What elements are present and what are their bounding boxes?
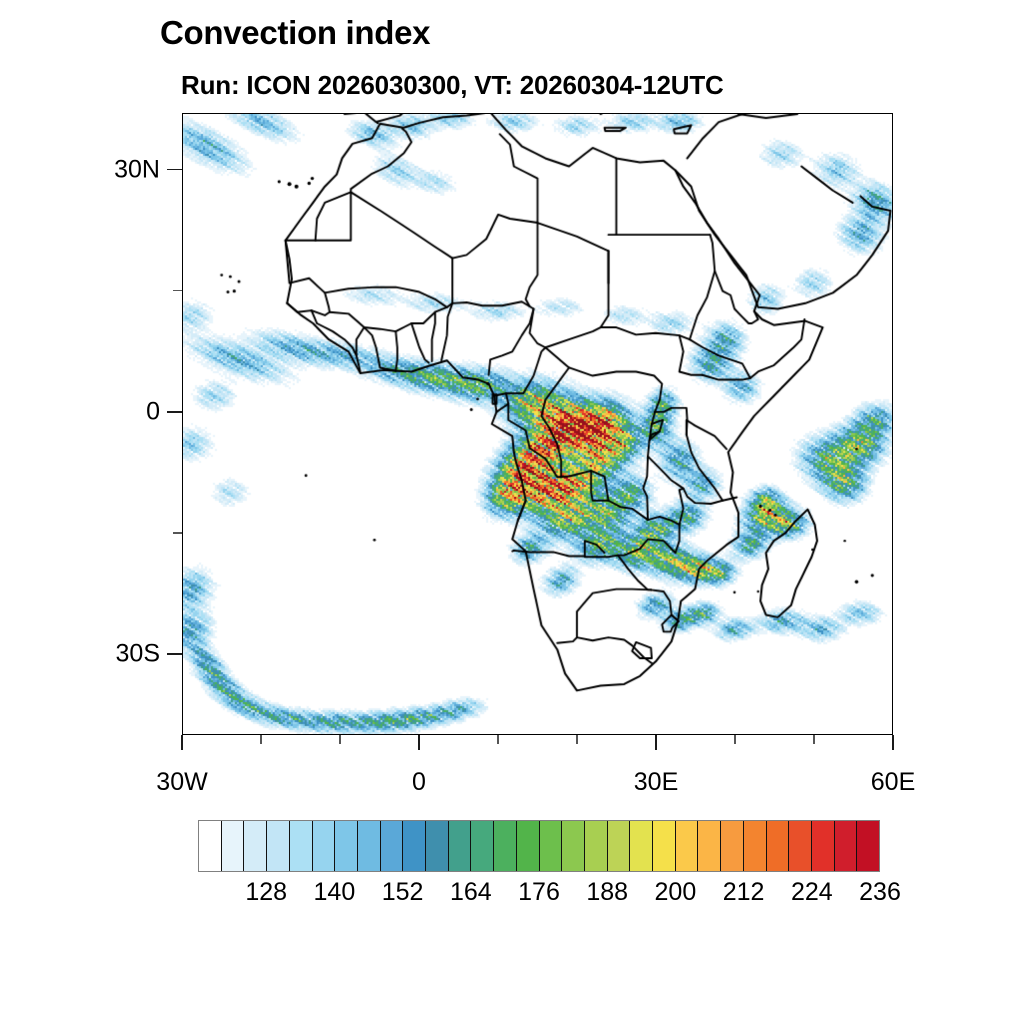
colorbar-cell [540,821,563,871]
colorbar-cell [222,821,245,871]
x-tick-minor [339,735,341,744]
page-title: Convection index [160,16,430,49]
colorbar-cell [676,821,699,871]
colorbar-cell [744,821,767,871]
colorbar-tick-label: 140 [314,878,356,907]
colorbar-cell [653,821,676,871]
colorbar-cell [244,821,267,871]
colorbar-cells [198,820,880,872]
y-tick-minor [173,532,182,534]
colorbar-tick-label: 152 [382,878,424,907]
x-tick-major [418,735,420,750]
colorbar-cell [471,821,494,871]
convection-index-figure: Convection index Run: ICON 2026030300, V… [0,0,1024,1024]
x-tick-major [655,735,657,750]
colorbar-cell [562,821,585,871]
colorbar-tick-label: 164 [450,878,492,907]
colorbar-cell [267,821,290,871]
colorbar-labels: 128140152164176188200212224236 [198,878,880,912]
x-tick-label: 30W [156,768,207,797]
colorbar-cell [199,821,222,871]
colorbar-cell [313,821,336,871]
colorbar-cell [403,821,426,871]
x-tick-label: 0 [412,768,426,797]
colorbar-cell [608,821,631,871]
convection-index-heatmap [183,114,892,734]
x-tick-minor [734,735,736,744]
map-panel [182,113,893,735]
colorbar-cell [698,821,721,871]
y-tick-minor [173,290,182,292]
colorbar-cell [585,821,608,871]
colorbar-cell [449,821,472,871]
colorbar-cell [630,821,653,871]
colorbar-tick-label: 224 [791,878,833,907]
y-tick-major [167,653,182,655]
colorbar-cell [721,821,744,871]
colorbar-tick-label: 236 [859,878,901,907]
colorbar-tick-label: 188 [586,878,628,907]
y-tick-label: 30N [114,155,160,184]
colorbar-cell [494,821,517,871]
colorbar-cell [290,821,313,871]
colorbar-cell [835,821,858,871]
colorbar-cell [426,821,449,871]
colorbar-tick-label: 176 [518,878,560,907]
colorbar-cell [857,821,879,871]
colorbar-cell [767,821,790,871]
y-tick-label: 0 [146,397,160,426]
x-tick-minor [497,735,499,744]
x-tick-label: 60E [871,768,915,797]
colorbar-cell [381,821,404,871]
x-tick-label: 30E [634,768,678,797]
colorbar-cell [517,821,540,871]
x-tick-major [181,735,183,750]
colorbar-tick-label: 212 [723,878,765,907]
colorbar-tick-label: 128 [245,878,287,907]
colorbar-cell [789,821,812,871]
y-tick-major [167,169,182,171]
y-tick-major [167,411,182,413]
figure-subtitle: Run: ICON 2026030300, VT: 20260304-12UTC [181,72,724,98]
x-tick-minor [576,735,578,744]
colorbar [198,820,880,872]
colorbar-cell [358,821,381,871]
y-tick-label: 30S [116,640,160,669]
colorbar-tick-label: 200 [655,878,697,907]
colorbar-cell [812,821,835,871]
x-tick-minor [813,735,815,744]
x-tick-minor [260,735,262,744]
colorbar-cell [335,821,358,871]
x-tick-major [892,735,894,750]
